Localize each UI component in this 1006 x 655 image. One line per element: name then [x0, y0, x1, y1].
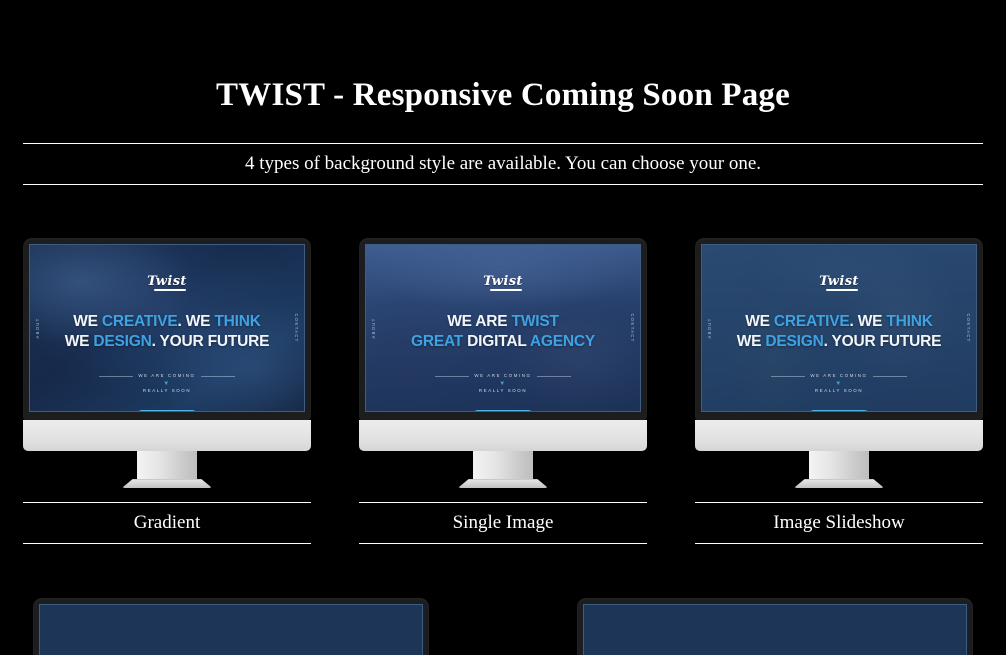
subtitle-container: 4 types of background style are availabl…: [23, 143, 983, 185]
page-title: TWIST - Responsive Coming Soon Page: [23, 0, 983, 115]
monitor-chin: [23, 420, 311, 451]
headline-line-1: WE CREATIVE. WE THINK: [65, 312, 270, 332]
monitor-screen: Twist WE ARE TWIST GREAT DIGITAL AGENCY: [365, 244, 641, 412]
monitor-foot: [794, 479, 885, 488]
monitor-neck: [137, 451, 196, 479]
monitor-mockup: Twist: [577, 598, 973, 655]
preview-caption: Gradient: [134, 512, 200, 533]
subscribe-button[interactable]: SUBSCRIBE: [136, 410, 199, 411]
side-label-about[interactable]: ABOUT: [35, 318, 40, 339]
headline-seg: WE: [737, 333, 766, 350]
subtext-row-1: WE ARE COMING: [99, 372, 234, 380]
screen-background-video: Twist: [40, 605, 422, 655]
subtext-row-1: WE ARE COMING: [435, 372, 570, 380]
divider-line-right: [537, 376, 571, 377]
screen-headline: WE CREATIVE. WE THINK WE DESIGN. YOUR FU…: [720, 312, 957, 352]
headline-seg-accent: CREATIVE: [774, 313, 850, 330]
divider-line-left: [435, 376, 469, 377]
headline-seg-accent: DESIGN: [93, 333, 151, 350]
headline-seg: DIGITAL: [463, 333, 530, 350]
headline-seg: WE: [73, 313, 102, 330]
page-header: TWIST - Responsive Coming Soon Page 4 ty…: [23, 0, 983, 185]
preview-caption: Single Image: [453, 512, 554, 533]
caption-container: Single Image: [359, 502, 647, 544]
divider-line-left: [771, 376, 805, 377]
headline-line-2: WE DESIGN. YOUR FUTURE: [737, 332, 942, 352]
divider-line-right: [873, 376, 907, 377]
screen-headline: WE ARE TWIST GREAT DIGITAL AGENCY: [395, 312, 612, 352]
twist-logo: Twist: [819, 274, 859, 289]
headline-seg: WE: [745, 313, 774, 330]
preview-card-gradient[interactable]: Twist WE CREATIVE. WE THINK WE DESIGN. Y…: [23, 238, 311, 544]
headline-seg: WE: [65, 333, 94, 350]
caption-container: Gradient: [23, 502, 311, 544]
monitor-bezel: Twist WE CREATIVE. WE THINK WE DESIGN. Y…: [23, 238, 311, 420]
monitor-mockup: Twist: [33, 598, 429, 655]
subscribe-button[interactable]: SUBSCRIBE: [472, 410, 535, 411]
headline-seg: . YOUR FUTURE: [152, 333, 270, 350]
side-label-contact[interactable]: CONTACT: [294, 314, 299, 343]
monitor-mockup: Twist WE CREATIVE. WE THINK WE DESIGN. Y…: [695, 238, 983, 488]
side-label-contact[interactable]: CONTACT: [630, 314, 635, 343]
headline-seg-accent: THINK: [214, 313, 260, 330]
monitor-screen: Twist WE CREATIVE. WE THINK WE DESIGN. Y…: [29, 244, 305, 412]
screen-background-video: Twist: [584, 605, 966, 655]
subtext-line-1: WE ARE COMING: [138, 372, 195, 380]
divider-line-right: [201, 376, 235, 377]
screen-content: Twist: [40, 605, 422, 655]
screen-background-slideshow: Twist WE CREATIVE. WE THINK WE DESIGN. Y…: [702, 245, 976, 411]
headline-line-2: GREAT DIGITAL AGENCY: [411, 332, 595, 352]
page-subtitle: 4 types of background style are availabl…: [23, 153, 983, 175]
screen-subtext: WE ARE COMING ▼ REALLY SOON: [771, 371, 906, 396]
headline-seg: WE ARE: [447, 313, 511, 330]
subtext-line-2: REALLY SOON: [435, 387, 570, 395]
headline-seg: . WE: [178, 313, 215, 330]
page-root: TWIST - Responsive Coming Soon Page 4 ty…: [0, 0, 1006, 655]
monitor-bezel: Twist WE ARE TWIST GREAT DIGITAL AGENCY: [359, 238, 647, 420]
monitor-neck: [809, 451, 868, 479]
headline-seg-accent: THINK: [886, 313, 932, 330]
headline-seg-accent: CREATIVE: [102, 313, 178, 330]
headline-seg-accent: TWIST: [512, 313, 559, 330]
monitor-chin: [695, 420, 983, 451]
previews-row-2: Twist: [23, 598, 983, 655]
monitor-foot: [458, 479, 549, 488]
side-label-about[interactable]: ABOUT: [371, 318, 376, 339]
preview-caption: Image Slideshow: [773, 512, 904, 533]
preview-card-row2-right[interactable]: Twist: [577, 598, 973, 655]
monitor-screen: Twist: [39, 604, 423, 655]
preview-card-row2-left[interactable]: Twist: [33, 598, 429, 655]
side-label-contact[interactable]: CONTACT: [966, 314, 971, 343]
side-label-about[interactable]: ABOUT: [707, 318, 712, 339]
monitor-screen: Twist WE CREATIVE. WE THINK WE DESIGN. Y…: [701, 244, 977, 412]
twist-logo: Twist: [147, 274, 187, 289]
screen-subtext: WE ARE COMING ▼ REALLY SOON: [99, 371, 234, 396]
previews-row-1: Twist WE CREATIVE. WE THINK WE DESIGN. Y…: [23, 238, 983, 544]
subtext-row-1: WE ARE COMING: [771, 372, 906, 380]
screen-background-photo: Twist WE ARE TWIST GREAT DIGITAL AGENCY: [366, 245, 640, 411]
subtext-line-2: REALLY SOON: [99, 387, 234, 395]
screen-headline: WE CREATIVE. WE THINK WE DESIGN. YOUR FU…: [48, 312, 285, 352]
screen-subtext: WE ARE COMING ▼ REALLY SOON: [435, 371, 570, 396]
screen-content: Twist WE ARE TWIST GREAT DIGITAL AGENCY: [366, 245, 640, 411]
monitor-bezel: Twist: [33, 598, 429, 655]
headline-seg: . YOUR FUTURE: [824, 333, 942, 350]
subtext-line-2: REALLY SOON: [771, 387, 906, 395]
headline-line-2: WE DESIGN. YOUR FUTURE: [65, 332, 270, 352]
screen-content: Twist WE CREATIVE. WE THINK WE DESIGN. Y…: [30, 245, 304, 411]
headline-seg-accent: AGENCY: [530, 333, 595, 350]
headline-seg-accent: DESIGN: [765, 333, 823, 350]
monitor-mockup: Twist WE CREATIVE. WE THINK WE DESIGN. Y…: [23, 238, 311, 488]
divider-line-left: [99, 376, 133, 377]
previews-grid: Twist WE CREATIVE. WE THINK WE DESIGN. Y…: [23, 238, 983, 655]
subtext-line-1: WE ARE COMING: [474, 372, 531, 380]
twist-logo: Twist: [483, 274, 523, 289]
subtext-line-1: WE ARE COMING: [810, 372, 867, 380]
headline-seg-accent: GREAT: [411, 333, 463, 350]
preview-card-image-slideshow[interactable]: Twist WE CREATIVE. WE THINK WE DESIGN. Y…: [695, 238, 983, 544]
subscribe-button[interactable]: SUBSCRIBE: [808, 410, 871, 411]
monitor-mockup: Twist WE ARE TWIST GREAT DIGITAL AGENCY: [359, 238, 647, 488]
monitor-bezel: Twist WE CREATIVE. WE THINK WE DESIGN. Y…: [695, 238, 983, 420]
screen-content: Twist WE CREATIVE. WE THINK WE DESIGN. Y…: [702, 245, 976, 411]
headline-seg: . WE: [850, 313, 887, 330]
monitor-screen: Twist: [583, 604, 967, 655]
monitor-bezel: Twist: [577, 598, 973, 655]
screen-background-gradient: Twist WE CREATIVE. WE THINK WE DESIGN. Y…: [30, 245, 304, 411]
monitor-chin: [359, 420, 647, 451]
preview-card-single-image[interactable]: Twist WE ARE TWIST GREAT DIGITAL AGENCY: [359, 238, 647, 544]
caption-container: Image Slideshow: [695, 502, 983, 544]
monitor-neck: [473, 451, 532, 479]
headline-line-1: WE ARE TWIST: [411, 312, 595, 332]
headline-line-1: WE CREATIVE. WE THINK: [737, 312, 942, 332]
monitor-foot: [122, 479, 213, 488]
screen-content: Twist: [584, 605, 966, 655]
